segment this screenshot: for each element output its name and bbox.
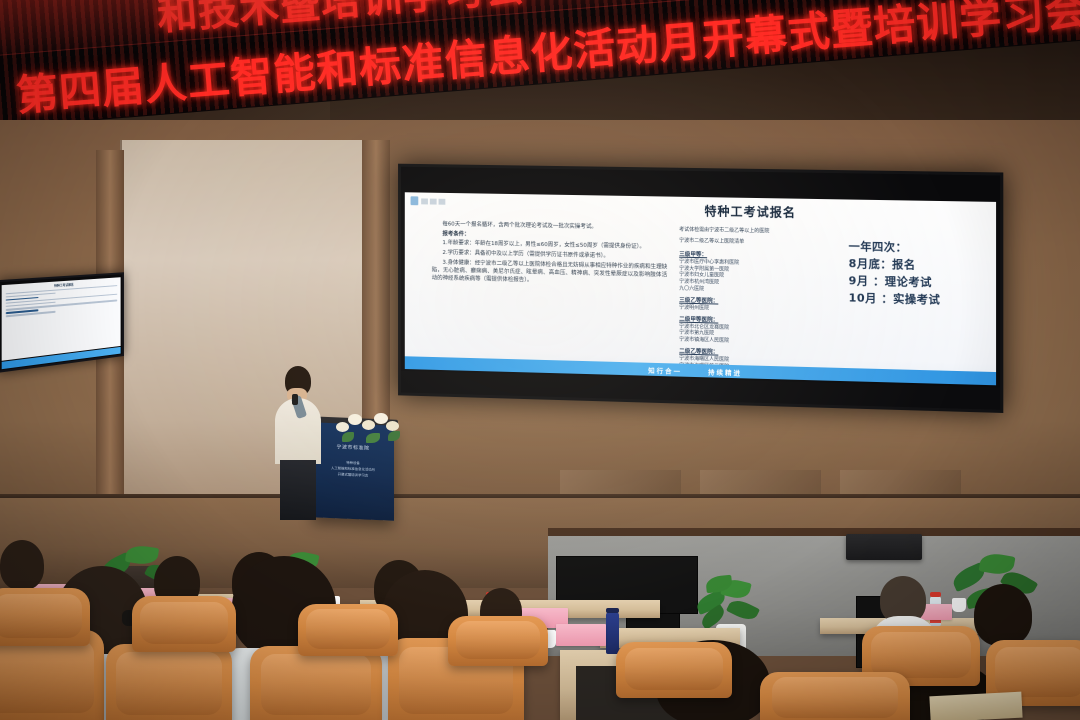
podium-flowers <box>332 408 404 448</box>
slide-mid-column: 考试体检需由宁波市二级乙等以上的医院 宁波市二级乙等以上医院清单 三级甲等： 宁… <box>673 223 842 367</box>
notebook <box>929 692 1022 720</box>
name-card <box>556 624 606 646</box>
slide-logo-mark <box>411 196 419 205</box>
chair <box>298 604 398 656</box>
slide-logo <box>411 196 446 205</box>
chair <box>760 672 910 720</box>
slide-mid-note-1: 考试体检需由宁波市二级乙等以上的医院 <box>679 227 838 237</box>
main-projection-screen: 特种工考试报名 每60天一个报名循环，含两个批次理论考试及一批次实操考试。 报考… <box>398 164 1003 413</box>
slide-right-column: 一年四次： 8月底：报名 9月 ：理论考试 10月 ：实操考试 <box>842 226 996 371</box>
conference-hall-photo: 和技术暨培训学习会 第四届人工智能和标准信息化活动月开幕式暨培训学习会 特种工考… <box>0 0 1080 720</box>
chair <box>132 596 236 652</box>
chair <box>0 588 90 646</box>
presenter-trousers <box>280 460 316 520</box>
slide-body: 每60天一个报名循环，含两个批次理论考试及一批次实操考试。 报考条件： 1.年龄… <box>405 218 996 371</box>
podium-text-block: 特种设备 人工智能和标准信息化活动月 开幕式暨培训学习会 <box>312 458 394 479</box>
slide-logo-bars <box>421 198 445 204</box>
slide-left-column: 每60天一个报名循环，含两个批次理论考试及一批次实操考试。 报考条件： 1.年龄… <box>405 218 673 363</box>
chair <box>250 646 382 720</box>
chair <box>106 644 232 720</box>
blue-thermos <box>606 612 619 654</box>
presenter <box>272 366 324 521</box>
plant-leaf <box>726 596 760 624</box>
slide-mid-note-2: 宁波市二级乙等以上医院清单 <box>679 238 838 248</box>
wall-speaker-right <box>846 534 922 560</box>
presentation-slide: 特种工考试报名 每60天一个报名循环，含两个批次理论考试及一批次实操考试。 报考… <box>405 192 996 385</box>
side-monitor: 特种工考试报名 <box>0 272 124 373</box>
audience-head <box>974 584 1032 646</box>
microphone <box>292 394 298 405</box>
cup <box>952 598 966 612</box>
slide-left-p4: 3.身体健康：经宁波市二级乙等以上医院体检合格且无妨碍从事相应特种作业的疾病和生… <box>432 258 667 287</box>
slide-right-line-3: 10月 ：实操考试 <box>849 289 992 309</box>
slide-footer-right: 持续精进 <box>708 366 742 377</box>
chair <box>616 642 732 698</box>
chair <box>448 616 548 666</box>
slide-footer-left: 知行合一 <box>648 364 682 375</box>
